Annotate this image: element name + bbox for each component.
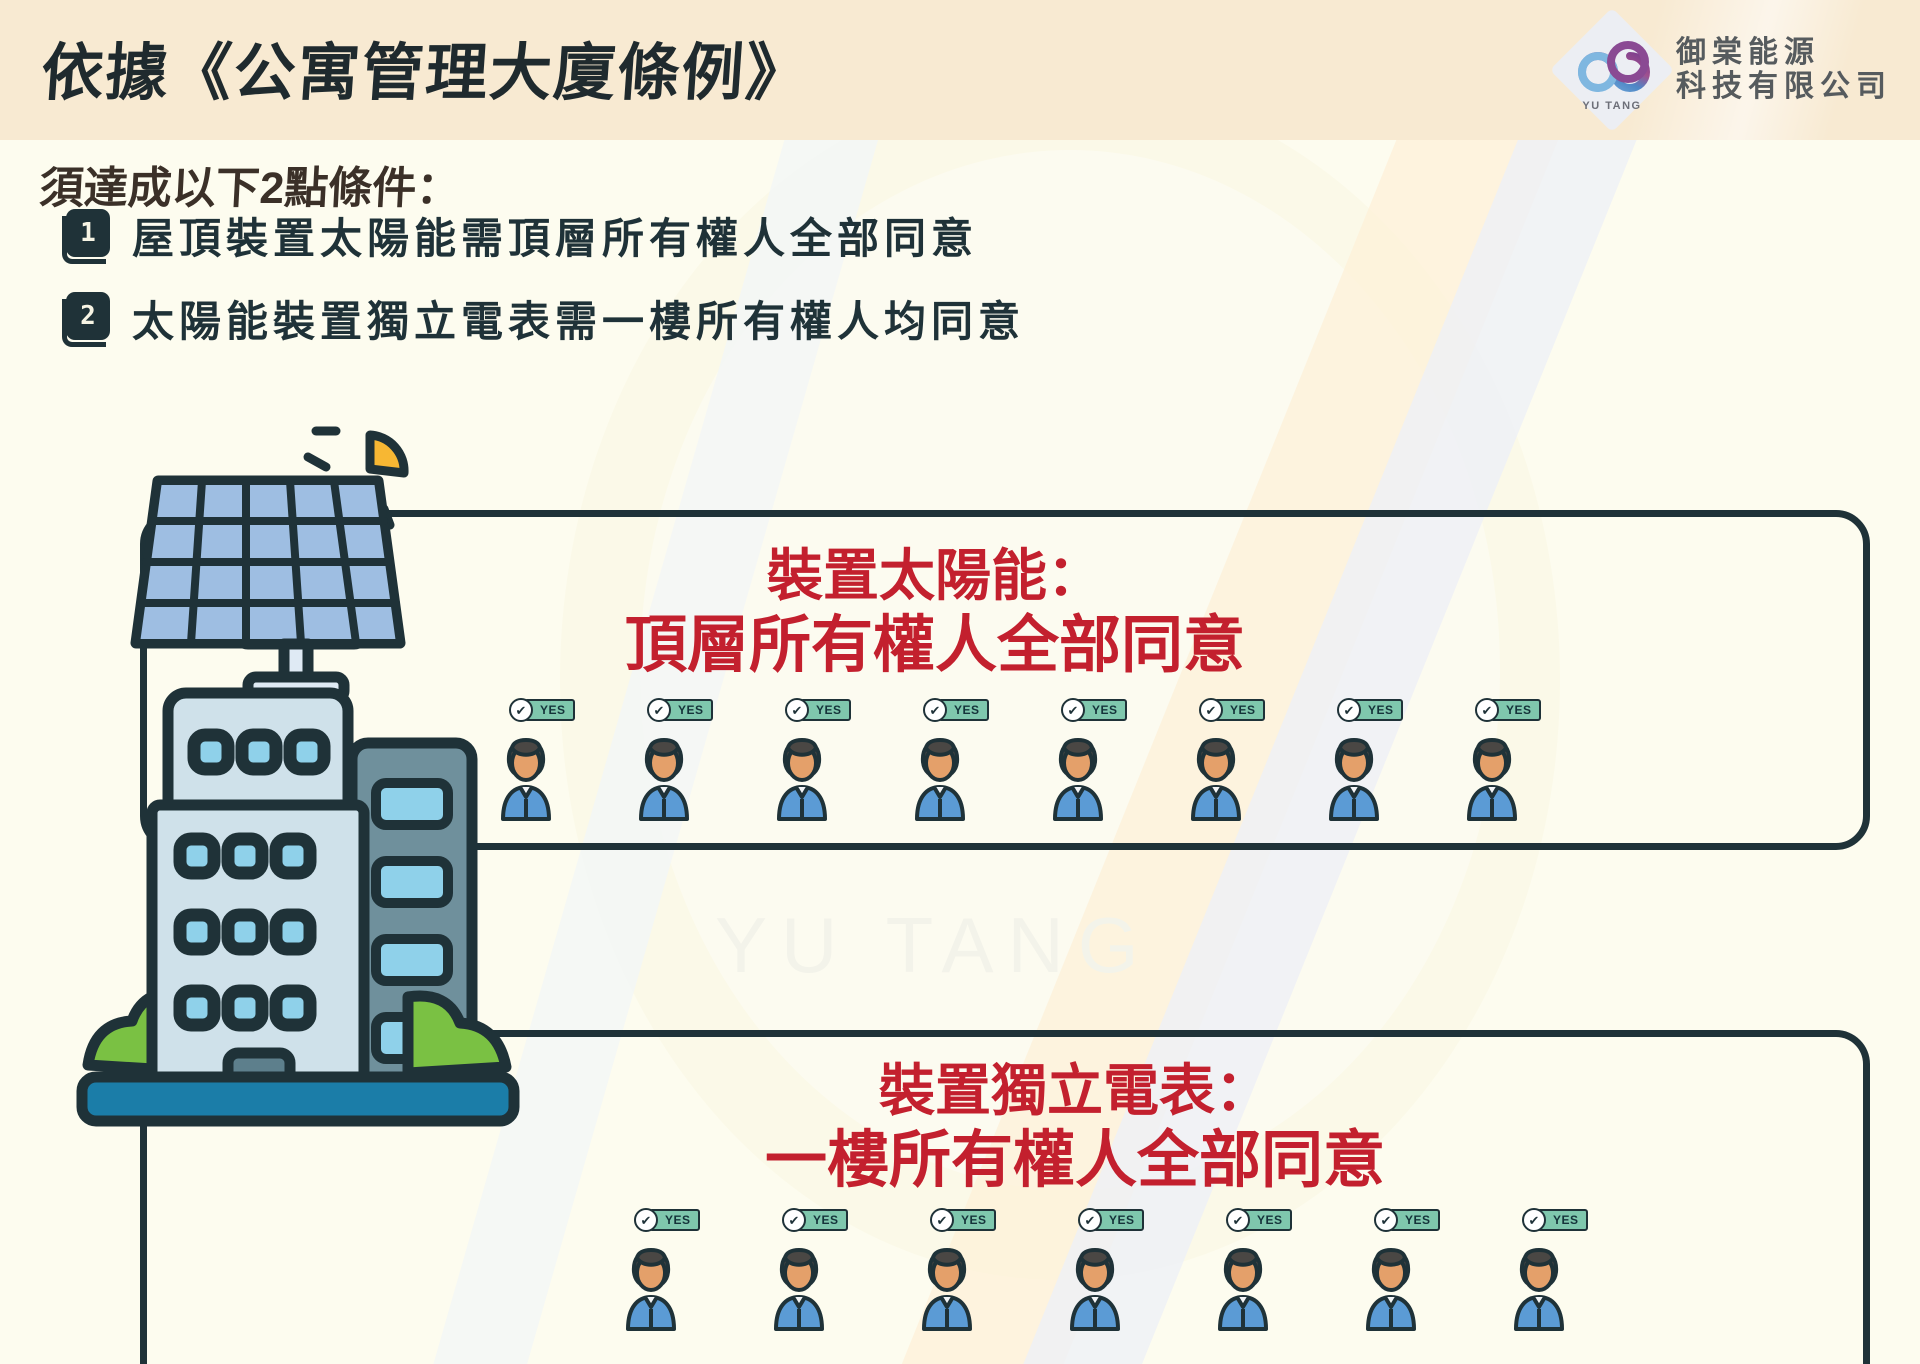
condition-item-1: 1 屋頂裝置太陽能需頂層所有權人全部同意 xyxy=(62,205,978,266)
company-name-line2: 科技有限公司 xyxy=(1676,70,1892,104)
yu-tang-watermark: YU TANG xyxy=(715,900,1153,991)
infographic-canvas: YU TANG 依據《公寓管理大廈條例》 YU TANG xyxy=(0,0,1920,1364)
apartment-building-with-solar-panel xyxy=(70,405,590,1145)
condition-item-2: 2 太陽能裝置獨立電表需一樓所有權人均同意 xyxy=(62,288,1025,349)
owner-person-icon: ✔YES xyxy=(1360,1245,1422,1331)
yes-badge: ✔YES xyxy=(1522,1208,1588,1232)
owner-person-icon: ✔YES xyxy=(1461,735,1523,821)
yes-badge: ✔YES xyxy=(1374,1208,1440,1232)
check-circle-icon: ✔ xyxy=(647,698,671,722)
check-circle-icon: ✔ xyxy=(1226,1208,1250,1232)
page-title: 依據《公寓管理大廈條例》 xyxy=(39,22,813,112)
owner-row-top-floor: ✔YES✔YES✔YES✔YES✔YES✔YES✔YES✔YES xyxy=(495,735,1523,821)
owner-person-icon: ✔YES xyxy=(916,1245,978,1331)
yes-badge: ✔YES xyxy=(782,1208,848,1232)
panel-meter-heading: 裝置獨立電表： 一樓所有權人全部同意 xyxy=(660,1058,1490,1197)
company-logo: YU TANG 御棠能源 科技有限公司 xyxy=(1558,16,1892,124)
logo-caption: YU TANG xyxy=(1558,100,1666,112)
yes-badge: ✔YES xyxy=(1475,698,1541,722)
company-name-line1: 御棠能源 xyxy=(1676,36,1892,70)
panel-solar-heading-line1: 裝置太陽能： xyxy=(520,543,1350,609)
check-circle-icon: ✔ xyxy=(1061,698,1085,722)
panel-solar-heading: 裝置太陽能： 頂層所有權人全部同意 xyxy=(520,543,1350,682)
check-circle-icon: ✔ xyxy=(1475,698,1499,722)
number-badge-icon: 1 xyxy=(62,209,110,263)
owner-person-icon: ✔YES xyxy=(768,1245,830,1331)
company-name: 御棠能源 科技有限公司 xyxy=(1676,36,1892,103)
yes-badge: ✔YES xyxy=(1337,698,1403,722)
condition-number-2: 2 xyxy=(66,292,110,340)
yes-badge: ✔YES xyxy=(785,698,851,722)
owner-person-icon: ✔YES xyxy=(1323,735,1385,821)
yes-badge: ✔YES xyxy=(647,698,713,722)
check-circle-icon: ✔ xyxy=(634,1208,658,1232)
yes-badge: ✔YES xyxy=(1061,698,1127,722)
panel-meter-heading-line2: 一樓所有權人全部同意 xyxy=(660,1124,1490,1197)
owner-row-ground-floor: ✔YES✔YES✔YES✔YES✔YES✔YES✔YES xyxy=(620,1245,1570,1331)
owner-person-icon: ✔YES xyxy=(620,1245,682,1331)
condition-number-1: 1 xyxy=(66,209,110,257)
check-circle-icon: ✔ xyxy=(785,698,809,722)
yes-badge: ✔YES xyxy=(634,1208,700,1232)
owner-person-icon: ✔YES xyxy=(1212,1245,1274,1331)
check-circle-icon: ✔ xyxy=(930,1208,954,1232)
number-badge-icon: 2 xyxy=(62,292,110,346)
check-circle-icon: ✔ xyxy=(1199,698,1223,722)
owner-person-icon: ✔YES xyxy=(1185,735,1247,821)
check-circle-icon: ✔ xyxy=(1078,1208,1102,1232)
panel-solar-heading-line2: 頂層所有權人全部同意 xyxy=(520,609,1350,682)
yu-tang-infinity-mark: YU TANG xyxy=(1558,16,1666,124)
check-circle-icon: ✔ xyxy=(782,1208,806,1232)
condition-text-2: 太陽能裝置獨立電表需一樓所有權人均同意 xyxy=(132,288,1025,349)
yes-badge: ✔YES xyxy=(930,1208,996,1232)
solar-panel-icon xyxy=(136,481,400,699)
check-circle-icon: ✔ xyxy=(923,698,947,722)
check-circle-icon: ✔ xyxy=(1337,698,1361,722)
owner-person-icon: ✔YES xyxy=(633,735,695,821)
check-circle-icon: ✔ xyxy=(1522,1208,1546,1232)
building-base xyxy=(82,1077,514,1121)
yes-badge: ✔YES xyxy=(1199,698,1265,722)
check-circle-icon: ✔ xyxy=(509,698,533,722)
yes-badge: ✔YES xyxy=(1226,1208,1292,1232)
owner-person-icon: ✔YES xyxy=(909,735,971,821)
yes-badge: ✔YES xyxy=(923,698,989,722)
check-circle-icon: ✔ xyxy=(1374,1208,1398,1232)
owner-person-icon: ✔YES xyxy=(1047,735,1109,821)
yes-badge: ✔YES xyxy=(1078,1208,1144,1232)
owner-person-icon: ✔YES xyxy=(1508,1245,1570,1331)
owner-person-icon: ✔YES xyxy=(1064,1245,1126,1331)
panel-meter-heading-line1: 裝置獨立電表： xyxy=(660,1058,1490,1124)
owner-person-icon: ✔YES xyxy=(771,735,833,821)
condition-text-1: 屋頂裝置太陽能需頂層所有權人全部同意 xyxy=(132,205,978,266)
